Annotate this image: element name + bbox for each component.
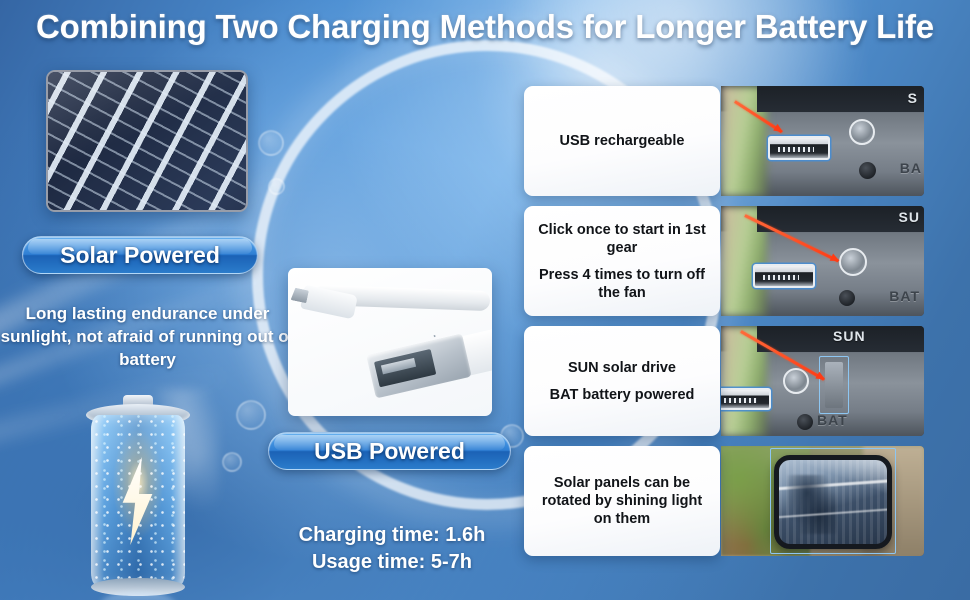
indicator-dot xyxy=(797,414,813,430)
solar-caption: Long lasting endurance under sunlight, n… xyxy=(0,302,295,371)
infographic-poster: Combining Two Charging Methods for Longe… xyxy=(0,0,970,600)
feature-text: Solar panels can be rotated by shining l… xyxy=(532,474,712,528)
bokeh-circle xyxy=(268,178,285,195)
usage-time: Usage time: 5-7h xyxy=(252,549,532,576)
bokeh-circle xyxy=(258,130,284,156)
solar-powered-badge[interactable]: Solar Powered xyxy=(22,236,258,274)
feature-row: SUN solar drive BAT battery powered SUN … xyxy=(524,326,924,436)
usb-powered-badge[interactable]: USB Powered xyxy=(268,432,511,470)
bokeh-circle xyxy=(222,452,242,472)
highlight-box xyxy=(819,356,849,414)
device-closeup: SU BAT xyxy=(721,206,924,316)
label-bat: BAT xyxy=(817,412,848,428)
feature-photo: SUN BAT xyxy=(721,326,924,436)
port-pins xyxy=(724,398,756,403)
feature-text: BAT battery powered xyxy=(550,386,695,404)
feature-text: USB rechargeable xyxy=(560,132,685,150)
bokeh-circle xyxy=(236,400,266,430)
feature-rows: USB rechargeable S BA xyxy=(524,86,924,566)
charging-time: Charging time: 1.6h xyxy=(252,522,532,549)
indicator-dot xyxy=(839,290,855,306)
feature-row: Solar panels can be rotated by shining l… xyxy=(524,446,924,556)
feature-card: Click once to start in 1st gear Press 4 … xyxy=(524,206,720,316)
page-title: Combining Two Charging Methods for Longe… xyxy=(0,8,970,46)
battery-body xyxy=(91,415,185,587)
micro-usb-port xyxy=(753,264,815,288)
label-bat-partial: BA xyxy=(900,160,922,176)
power-button xyxy=(783,368,809,394)
time-specs: Charging time: 1.6h Usage time: 5-7h xyxy=(252,522,532,576)
outdoor-scene xyxy=(721,446,924,556)
feature-photo: SU BAT xyxy=(721,206,924,316)
photo-sheen xyxy=(48,72,246,210)
feature-text: Press 4 times to turn off the fan xyxy=(532,266,712,302)
power-button xyxy=(839,248,867,276)
power-button xyxy=(849,119,875,145)
device-closeup: SUN BAT xyxy=(721,326,924,436)
battery-illustration xyxy=(85,395,191,600)
usb-cable-photo: ⋮— xyxy=(288,268,492,416)
micro-usb-port xyxy=(768,136,830,160)
solar-panel-photo xyxy=(46,70,248,212)
label-sun-partial: SU xyxy=(899,209,920,225)
feature-card: Solar panels can be rotated by shining l… xyxy=(524,446,720,556)
feature-photo xyxy=(721,446,924,556)
usb-powered-badge-label: USB Powered xyxy=(314,438,465,465)
feature-text: SUN solar drive xyxy=(568,359,676,377)
feature-photo: S BA xyxy=(721,86,924,196)
micro-usb-port xyxy=(721,388,771,410)
usb-a-connector xyxy=(366,334,471,399)
port-pins xyxy=(763,275,799,280)
device-top-bezel xyxy=(757,86,924,112)
highlight-box xyxy=(770,448,896,554)
feature-card: SUN solar drive BAT battery powered xyxy=(524,326,720,436)
feature-row: USB rechargeable S BA xyxy=(524,86,924,196)
port-pins xyxy=(778,147,814,152)
feature-row: Click once to start in 1st gear Press 4 … xyxy=(524,206,924,316)
label-bat: BAT xyxy=(889,288,920,304)
solar-powered-badge-label: Solar Powered xyxy=(60,242,220,269)
indicator-dot xyxy=(859,162,876,179)
label-sun: SUN xyxy=(833,328,866,344)
feature-card: USB rechargeable xyxy=(524,86,720,196)
label-sun-partial: S xyxy=(908,90,918,106)
device-closeup: S BA xyxy=(721,86,924,196)
feature-text: Click once to start in 1st gear xyxy=(532,221,712,257)
